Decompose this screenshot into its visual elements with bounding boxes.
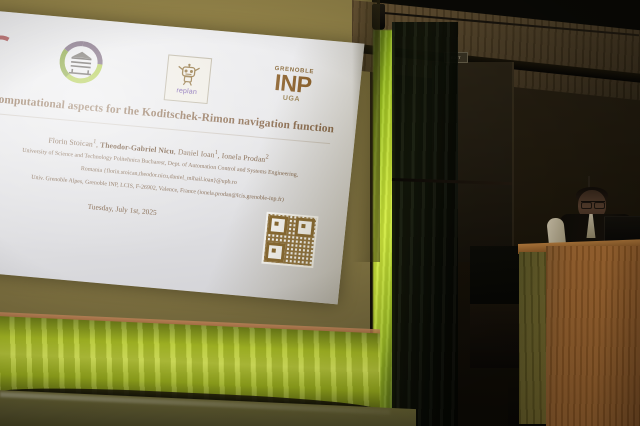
projected-slide: replan GRENOBLE INP UGA Computational as…: [0, 10, 364, 304]
qr-finder-top-right: [294, 217, 315, 238]
qr-code[interactable]: [261, 212, 318, 268]
podium-front-panel: [546, 246, 640, 426]
screen-right-edge-shadow: [352, 0, 380, 262]
glasses-icon: [581, 201, 605, 207]
partial-red-logo: [0, 32, 21, 74]
grenoble-inp-logo: GRENOBLE INP UGA: [259, 65, 326, 118]
grenoble-inp-main-text: INP: [273, 72, 312, 97]
qr-finder-top-left: [267, 215, 288, 236]
author-4: Ionela Prodan: [221, 151, 265, 164]
author-1: Florin Stoican: [48, 136, 93, 149]
podium-side-panel: [519, 252, 549, 424]
upb-circular-logo: [55, 37, 108, 89]
qr-finder-bottom-left: [265, 242, 286, 263]
replan-logo-text: replan: [176, 87, 197, 96]
robot-icon: [174, 62, 202, 88]
author-2: Theodor-Gabriel Nicu: [100, 140, 175, 156]
conference-room-photo: EXIT: [0, 0, 640, 426]
dark-curtain: [392, 22, 458, 426]
author-3: Daniel Ioan: [177, 147, 215, 159]
grenoble-inp-uga-text: UGA: [282, 95, 300, 104]
replan-logo: replan: [164, 54, 213, 104]
